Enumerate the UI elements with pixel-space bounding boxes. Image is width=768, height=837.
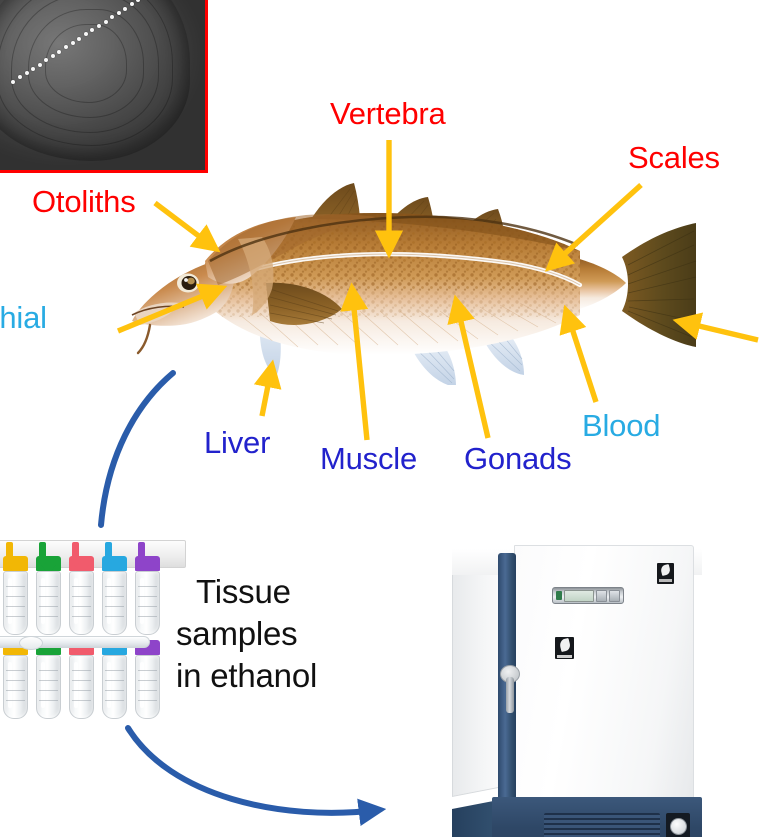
tube-graduation (138, 670, 157, 671)
eye-highlight (184, 278, 188, 282)
tube-graduation (138, 700, 157, 701)
otolith-annulus-dot (57, 50, 61, 54)
otolith-annulus-dot (18, 75, 22, 79)
tube-graduation (72, 616, 91, 617)
chin-barbel (138, 325, 150, 353)
figure-canvas: Otoliths Vertebra Scales anchial h Liver… (0, 0, 768, 837)
tube-body (135, 655, 160, 719)
freezer-control-panel (552, 587, 624, 604)
ultra-low-temperature-freezer (452, 545, 702, 837)
brand-mark-icon (558, 638, 571, 652)
tube-graduation (138, 680, 157, 681)
knob-dial-icon (670, 818, 687, 835)
tube-graduation (6, 690, 25, 691)
tube-body (135, 571, 160, 635)
tube-body (102, 571, 127, 635)
freezer-power-knob[interactable] (666, 813, 690, 837)
flow-arrow-fish-to-tubes (95, 365, 240, 565)
microcentrifuge-tube[interactable] (36, 640, 61, 719)
transfer-pipette (0, 636, 150, 648)
label-tissue-line2: samples (176, 617, 297, 650)
tube-body (3, 571, 28, 635)
tube-graduation (6, 670, 25, 671)
brand-wordmark (557, 655, 572, 658)
freezer-vent-grille (544, 813, 660, 837)
label-vertebra: Vertebra (330, 98, 446, 129)
freezer-base-side (452, 800, 496, 837)
freezer-brand-logo (555, 637, 574, 659)
tube-graduation (6, 616, 25, 617)
panel-status-led (556, 591, 562, 600)
freezer-door-handle[interactable] (506, 677, 514, 713)
otolith-annulus-dot (44, 58, 48, 62)
otolith-annulus-dot (51, 54, 55, 58)
fish-svg (110, 165, 710, 385)
tube-body (3, 655, 28, 719)
otolith-annulus-dot (77, 37, 81, 41)
otolith-annulus-dot (97, 24, 101, 28)
otolith-annulus-dot (31, 67, 35, 71)
panel-display (564, 590, 594, 602)
tube-graduation (105, 680, 124, 681)
tube-graduation (39, 690, 58, 691)
rack-color-clip (39, 542, 46, 564)
tube-graduation (105, 670, 124, 671)
tube-rack-row (0, 640, 184, 732)
otolith-annulus-dot (25, 71, 29, 75)
tube-graduation (39, 616, 58, 617)
tube-graduation (39, 586, 58, 587)
microcentrifuge-tube[interactable] (135, 556, 160, 635)
otolith-annulus-dot (38, 63, 42, 67)
otolith-annulus-dot (123, 7, 127, 11)
tube-graduation (39, 700, 58, 701)
tube-graduation (138, 690, 157, 691)
otolith-annulus-dot (90, 28, 94, 32)
microcentrifuge-tube[interactable] (36, 556, 61, 635)
tube-body (69, 655, 94, 719)
tube-graduation (39, 596, 58, 597)
microcentrifuge-tube[interactable] (102, 556, 127, 635)
microcentrifuge-tube[interactable] (3, 556, 28, 635)
label-otoliths: Otoliths (32, 186, 136, 217)
label-branchial-arch-line1: anchial (0, 302, 47, 333)
tube-graduation (6, 700, 25, 701)
microcentrifuge-tube[interactable] (135, 640, 160, 719)
tube-graduation (72, 606, 91, 607)
tube-graduation (39, 680, 58, 681)
tube-graduation (72, 586, 91, 587)
tube-graduation (138, 596, 157, 597)
freezer-door (514, 545, 694, 805)
tube-graduation (6, 586, 25, 587)
label-tissue-line3: in ethanol (176, 659, 317, 692)
otolith-photo-panel (0, 0, 208, 173)
tube-graduation (39, 606, 58, 607)
caudal-fin (622, 223, 696, 347)
otolith-annulus-dot (104, 20, 108, 24)
freezer-left-side (452, 557, 502, 797)
freezer-top-badge (657, 563, 674, 584)
tube-body (69, 571, 94, 635)
tube-graduation (72, 596, 91, 597)
tube-graduation (39, 670, 58, 671)
tube-rack-group (0, 540, 184, 730)
tube-graduation (138, 616, 157, 617)
tube-body (102, 655, 127, 719)
otolith-annulus-dot (11, 80, 15, 84)
otolith-annulus-dot (84, 32, 88, 36)
tube-graduation (105, 700, 124, 701)
otolith-image (0, 0, 205, 170)
microcentrifuge-tube[interactable] (3, 640, 28, 719)
label-muscle: Muscle (320, 443, 417, 474)
otolith-annulus-dot (117, 11, 121, 15)
tube-body (36, 571, 61, 635)
tube-graduation (138, 606, 157, 607)
fish-illustration (110, 165, 710, 385)
otolith-annulus-dot (130, 2, 134, 6)
otolith-annulus-dot (71, 41, 75, 45)
label-tissue-line1: Tissue (196, 575, 291, 608)
tube-graduation (138, 586, 157, 587)
brand-wordmark (659, 579, 672, 582)
microcentrifuge-tube[interactable] (69, 640, 94, 719)
otolith-annuli-dots (0, 0, 205, 170)
tube-graduation (72, 700, 91, 701)
tube-graduation (72, 690, 91, 691)
tube-body (36, 655, 61, 719)
label-gonads: Gonads (464, 443, 571, 474)
otolith-annulus-dot (64, 45, 68, 49)
tube-rack-row (0, 540, 184, 632)
eye-iris (187, 278, 195, 285)
label-scales: Scales (628, 142, 720, 173)
tube-graduation (6, 596, 25, 597)
tube-graduation (105, 690, 124, 691)
rack-color-clip (138, 542, 145, 564)
rack-color-clip (105, 542, 112, 564)
tube-graduation (105, 596, 124, 597)
tube-graduation (72, 670, 91, 671)
tube-graduation (6, 680, 25, 681)
microcentrifuge-tube[interactable] (102, 640, 127, 719)
otolith-annulus-dot (110, 15, 114, 19)
brand-mark-icon (660, 564, 671, 576)
tube-graduation (105, 586, 124, 587)
otolith-annulus-dot (136, 0, 140, 2)
rack-color-clip (6, 542, 13, 564)
label-liver: Liver (204, 427, 270, 458)
tube-graduation (105, 606, 124, 607)
rack-color-clip (72, 542, 79, 564)
tube-graduation (105, 616, 124, 617)
pipette-bulb (19, 636, 43, 650)
tube-graduation (6, 606, 25, 607)
panel-button[interactable] (596, 590, 607, 602)
microcentrifuge-tube[interactable] (69, 556, 94, 635)
panel-button[interactable] (609, 590, 620, 602)
label-blood: Blood (582, 410, 660, 441)
tube-graduation (72, 680, 91, 681)
